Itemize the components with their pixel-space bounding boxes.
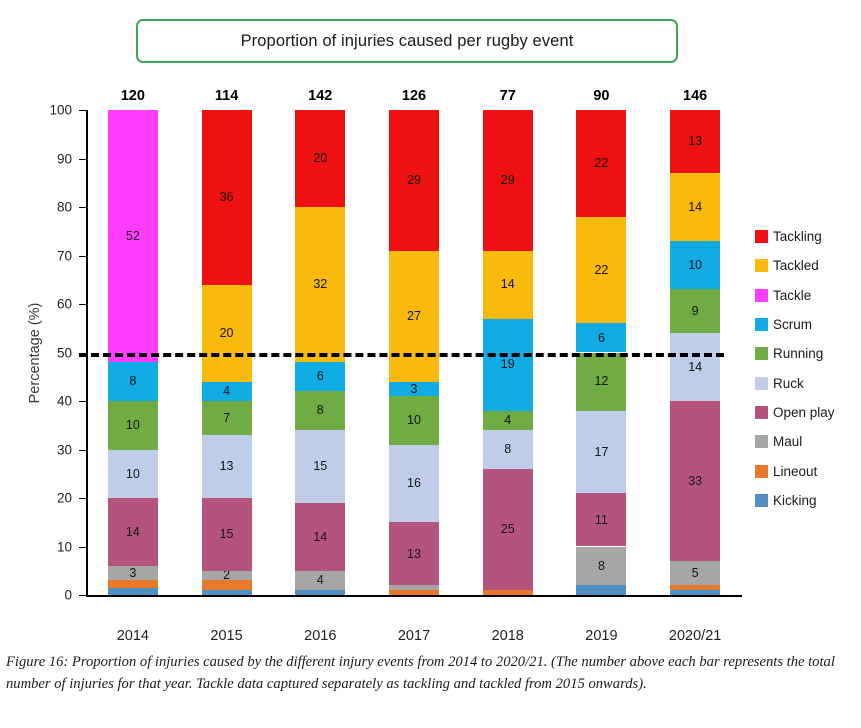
bar-segment-running[interactable]: 4 xyxy=(483,411,533,430)
bar-segment-ruck[interactable]: 8 xyxy=(483,430,533,469)
bar-total-label: 77 xyxy=(500,88,516,104)
bar-segment-running[interactable]: 8 xyxy=(295,391,345,430)
bar-segment-tackling[interactable]: 29 xyxy=(483,110,533,251)
legend-color-swatch xyxy=(755,318,768,331)
bar-segment-maul[interactable]: 2 xyxy=(202,571,252,581)
bar-segment-tackled[interactable]: 22 xyxy=(576,217,626,324)
page-title: Proportion of injuries caused per rugby … xyxy=(241,32,574,51)
bar-segment-lineout[interactable] xyxy=(202,580,252,590)
y-axis-tick-label: 60 xyxy=(26,297,72,312)
legend-item-running[interactable]: Running xyxy=(755,339,861,368)
bar-total-label: 146 xyxy=(683,88,707,104)
legend-item-label: Ruck xyxy=(773,376,804,391)
y-axis-tick-label: 10 xyxy=(26,539,72,554)
bar-segment-value: 10 xyxy=(407,414,421,427)
bar-segment-value: 6 xyxy=(317,370,324,383)
bar-segment-ruck[interactable]: 16 xyxy=(389,445,439,523)
bar-segment-tackled[interactable]: 14 xyxy=(483,251,533,319)
bar-segment-lineout[interactable] xyxy=(108,580,158,587)
bar-segment-value: 13 xyxy=(688,135,702,148)
y-axis-tick-label: 40 xyxy=(26,394,72,409)
bar-segment-open-play[interactable]: 11 xyxy=(576,493,626,546)
bar-segment-value: 20 xyxy=(220,327,234,340)
bar-segment-value: 15 xyxy=(313,460,327,473)
legend-item-tackled[interactable]: Tackled xyxy=(755,251,861,280)
bar-segment-maul[interactable]: 4 xyxy=(295,571,345,590)
bar-segment-value: 19 xyxy=(501,358,515,371)
bar-segment-maul[interactable]: 3 xyxy=(108,566,158,581)
legend-color-swatch xyxy=(755,494,768,507)
legend-item-ruck[interactable]: Ruck xyxy=(755,368,861,397)
bar-segment-value: 22 xyxy=(594,157,608,170)
bar-segment-tackled[interactable]: 20 xyxy=(202,285,252,382)
legend-item-label: Tackle xyxy=(773,288,811,303)
bar-segment-scrum[interactable]: 10 xyxy=(670,241,720,290)
bar-segment-value: 17 xyxy=(594,446,608,459)
figure-page: Proportion of injuries caused per rugby … xyxy=(0,0,861,728)
bar-segment-value: 9 xyxy=(692,305,699,318)
bar-segment-value: 27 xyxy=(407,310,421,323)
bar-segment-value: 12 xyxy=(594,375,608,388)
bar-segment-open-play[interactable]: 25 xyxy=(483,469,533,590)
legend-color-swatch xyxy=(755,465,768,478)
legend-color-swatch xyxy=(755,435,768,448)
bar-segment-value: 7 xyxy=(223,412,230,425)
bar-segment-value: 5 xyxy=(692,567,699,580)
y-axis-tick-label: 30 xyxy=(26,442,72,457)
bar-segment-lineout[interactable] xyxy=(389,590,439,595)
bar-total-label: 126 xyxy=(402,88,426,104)
bar-segment-scrum[interactable]: 8 xyxy=(108,362,158,401)
bar-segment-open-play[interactable]: 15 xyxy=(202,498,252,571)
x-axis-category-label: 2016 xyxy=(283,628,357,644)
bar-segment-value: 14 xyxy=(688,361,702,374)
legend-item-tackle[interactable]: Tackle xyxy=(755,281,861,310)
fifty-percent-reference-line xyxy=(79,353,724,357)
bar-segment-ruck[interactable]: 13 xyxy=(202,435,252,498)
bar-segment-tackled[interactable]: 27 xyxy=(389,251,439,382)
bar-segment-lineout[interactable] xyxy=(483,590,533,595)
y-axis-tick-label: 70 xyxy=(26,248,72,263)
bar-segment-value: 22 xyxy=(594,264,608,277)
bar-segment-value: 10 xyxy=(126,419,140,432)
bar-segment-value: 8 xyxy=(598,560,605,573)
bar-segment-ruck[interactable]: 14 xyxy=(670,333,720,401)
bar-segment-value: 36 xyxy=(220,191,234,204)
legend-item-scrum[interactable]: Scrum xyxy=(755,310,861,339)
bar-segment-kicking[interactable] xyxy=(202,590,252,595)
bar-segment-open-play[interactable]: 33 xyxy=(670,401,720,561)
bar-segment-value: 4 xyxy=(317,574,324,587)
bar-segment-tackling[interactable]: 20 xyxy=(295,110,345,207)
bar-segment-value: 14 xyxy=(313,531,327,544)
bar-total-label: 142 xyxy=(308,88,332,104)
bar-segment-running[interactable]: 9 xyxy=(670,289,720,333)
bar-segment-ruck[interactable]: 10 xyxy=(108,450,158,499)
chart-plot-area: Percentage (%) 0102030405060708090100 52… xyxy=(0,85,861,630)
bar-segment-tackled[interactable]: 32 xyxy=(295,207,345,362)
bar-segment-scrum[interactable]: 6 xyxy=(295,362,345,391)
bar-segment-value: 4 xyxy=(223,385,230,398)
x-axis-category-label: 2020/21 xyxy=(658,628,732,644)
x-axis-line xyxy=(86,595,742,597)
y-axis-tick-label: 80 xyxy=(26,200,72,215)
bar-segment-value: 29 xyxy=(407,174,421,187)
bar-segment-value: 33 xyxy=(688,475,702,488)
bar-segment-value: 10 xyxy=(126,468,140,481)
bar-segment-kicking[interactable] xyxy=(108,588,158,595)
legend-item-label: Lineout xyxy=(773,464,817,479)
figure-caption: Figure 16: Proportion of injuries caused… xyxy=(6,651,852,695)
bar-segment-tackling[interactable]: 36 xyxy=(202,110,252,285)
x-axis-category-label: 2014 xyxy=(96,628,170,644)
bar-segment-tackle[interactable]: 52 xyxy=(108,110,158,362)
legend-color-swatch xyxy=(755,406,768,419)
bar-segment-value: 11 xyxy=(595,514,608,527)
legend-item-label: Running xyxy=(773,346,823,361)
legend-item-label: Scrum xyxy=(773,317,812,332)
legend-item-label: Kicking xyxy=(773,493,817,508)
legend-color-swatch xyxy=(755,259,768,272)
bar-segment-running[interactable]: 10 xyxy=(108,401,158,450)
bar-segment-value: 3 xyxy=(411,383,418,396)
bar-segment-scrum[interactable]: 4 xyxy=(202,382,252,401)
legend-item-label: Tackling xyxy=(773,229,822,244)
legend-item-lineout[interactable]: Lineout xyxy=(755,456,861,485)
y-axis-tick-label: 90 xyxy=(26,151,72,166)
bar-segment-value: 6 xyxy=(598,332,605,345)
legend-item-label: Tackled xyxy=(773,258,819,273)
bar-segment-value: 4 xyxy=(504,414,511,427)
x-axis-category-label: 2018 xyxy=(471,628,545,644)
legend-color-swatch xyxy=(755,347,768,360)
legend-item-label: Maul xyxy=(773,434,802,449)
bar-segment-value: 3 xyxy=(129,567,136,580)
bar-segment-maul[interactable]: 8 xyxy=(576,547,626,586)
legend-color-swatch xyxy=(755,289,768,302)
bar-segment-value: 32 xyxy=(313,278,327,291)
bar-segment-value: 16 xyxy=(407,477,421,490)
bar-segment-value: 15 xyxy=(220,528,234,541)
legend-item-label: Open play xyxy=(773,405,835,420)
bar-segment-value: 25 xyxy=(501,523,515,536)
legend-item-tackling[interactable]: Tackling xyxy=(755,222,861,251)
bar-segment-kicking[interactable] xyxy=(576,585,626,595)
bar-segment-open-play[interactable]: 13 xyxy=(389,522,439,585)
bar-segment-value: 14 xyxy=(501,278,515,291)
bar-segment-tackling[interactable]: 29 xyxy=(389,110,439,251)
y-axis-tick-label: 100 xyxy=(26,103,72,118)
y-axis-tick-label: 20 xyxy=(26,491,72,506)
bar-segment-open-play[interactable]: 14 xyxy=(295,503,345,571)
bar-segment-ruck[interactable]: 17 xyxy=(576,411,626,493)
bar-segment-value: 14 xyxy=(126,526,140,539)
bar-segment-value: 29 xyxy=(501,174,515,187)
bar-segment-value: 8 xyxy=(129,375,136,388)
bar-segment-value: 13 xyxy=(220,460,234,473)
x-axis-category-label: 2017 xyxy=(377,628,451,644)
x-axis-category-label: 2015 xyxy=(190,628,264,644)
bar-segment-scrum[interactable]: 19 xyxy=(483,319,533,411)
bar-total-label: 114 xyxy=(215,88,238,104)
bar-segment-scrum[interactable]: 6 xyxy=(576,323,626,352)
legend-color-swatch xyxy=(755,377,768,390)
bar-segment-value: 10 xyxy=(688,259,702,272)
legend-item-open-play[interactable]: Open play xyxy=(755,398,861,427)
bar-segment-tackling[interactable]: 22 xyxy=(576,110,626,217)
legend-item-kicking[interactable]: Kicking xyxy=(755,486,861,515)
bar-segment-running[interactable]: 10 xyxy=(389,396,439,445)
bar-segment-value: 8 xyxy=(504,443,511,456)
bar-segment-value: 13 xyxy=(407,548,421,561)
chart-legend: TacklingTackledTackleScrumRunningRuckOpe… xyxy=(755,222,861,515)
bar-total-label: 120 xyxy=(121,88,145,104)
bar-segment-running[interactable]: 7 xyxy=(202,401,252,435)
bar-segment-ruck[interactable]: 15 xyxy=(295,430,345,503)
bar-segment-tackling[interactable]: 13 xyxy=(670,110,720,173)
bar-segment-value: 20 xyxy=(313,152,327,165)
legend-color-swatch xyxy=(755,230,768,243)
bar-segment-value: 2 xyxy=(223,571,230,581)
bar-segment-running[interactable]: 12 xyxy=(576,353,626,411)
bar-segment-value: 52 xyxy=(126,230,140,243)
y-axis-tick-label: 0 xyxy=(26,588,72,603)
bar-segment-kicking[interactable] xyxy=(295,590,345,595)
chart-title-box: Proportion of injuries caused per rugby … xyxy=(136,19,678,63)
legend-item-maul[interactable]: Maul xyxy=(755,427,861,456)
bar-segment-kicking[interactable] xyxy=(670,590,720,595)
bar-segment-tackled[interactable]: 14 xyxy=(670,173,720,241)
bar-segment-scrum[interactable]: 3 xyxy=(389,382,439,397)
y-axis-tick-label: 50 xyxy=(26,345,72,360)
bar-segment-value: 14 xyxy=(688,201,702,214)
bar-segment-value: 8 xyxy=(317,404,324,417)
bar-segment-open-play[interactable]: 14 xyxy=(108,498,158,566)
x-axis-category-label: 2019 xyxy=(564,628,638,644)
bar-segment-maul[interactable]: 5 xyxy=(670,561,720,585)
y-axis-label-container: Percentage (%) xyxy=(0,110,28,595)
bar-total-label: 90 xyxy=(593,88,609,104)
